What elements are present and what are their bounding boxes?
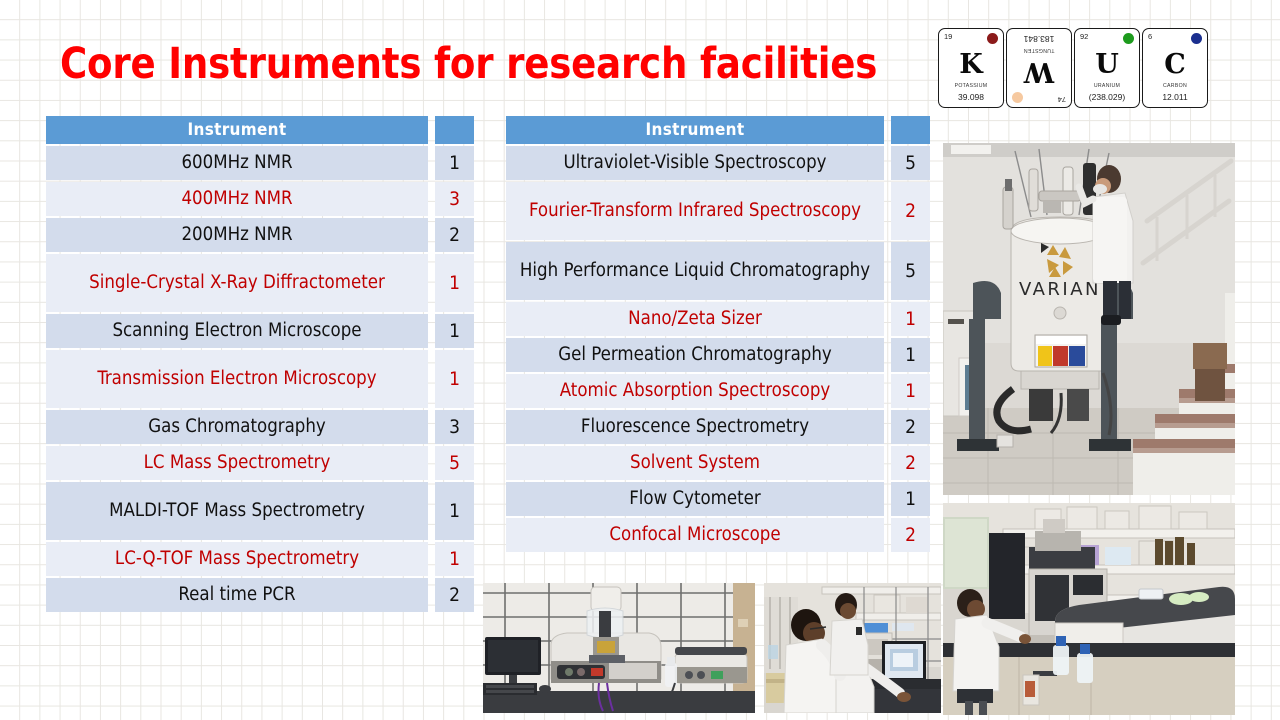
- photo-research-team: [764, 583, 941, 713]
- cell-quantity: 2: [891, 410, 930, 444]
- cell-gap: [428, 314, 435, 348]
- element-category-dot-icon: [1123, 33, 1134, 44]
- cell-gap: [428, 446, 435, 480]
- cell-quantity: 5: [435, 446, 474, 480]
- element-atomic-mass: 39.098: [939, 92, 1003, 102]
- cell-quantity: 2: [891, 446, 930, 480]
- cell-instrument-name: 600MHz NMR: [46, 146, 428, 180]
- cell-gap: [884, 146, 891, 180]
- cell-gap: [428, 182, 435, 216]
- element-category-dot-icon: [1012, 92, 1023, 103]
- cell-gap: [884, 182, 891, 240]
- cell-instrument-name: Fourier-Transform Infrared Spectroscopy: [506, 182, 884, 240]
- table-row[interactable]: Ultraviolet-Visible Spectroscopy5: [506, 146, 930, 180]
- column-header-instrument: Instrument: [46, 116, 428, 144]
- cell-quantity: 1: [435, 350, 474, 408]
- instrument-table-right: Instrument Ultraviolet-Visible Spectrosc…: [506, 116, 930, 554]
- element-name: CARBON: [1143, 83, 1207, 89]
- column-header-quantity: [435, 116, 474, 144]
- cell-instrument-name: Fluorescence Spectrometry: [506, 410, 884, 444]
- element-name: POTASSIUM: [939, 83, 1003, 89]
- table-row[interactable]: Scanning Electron Microscope1: [46, 314, 474, 348]
- element-atomic-number: 6: [1148, 32, 1152, 41]
- table-header-row: Instrument: [46, 116, 474, 144]
- cell-instrument-name: LC Mass Spectrometry: [46, 446, 428, 480]
- table-row[interactable]: Gel Permeation Chromatography1: [506, 338, 930, 372]
- table-row[interactable]: 400MHz NMR3: [46, 182, 474, 216]
- cell-quantity: 3: [435, 182, 474, 216]
- photo-nmr-spectrometer: VARIAN: [943, 143, 1235, 495]
- cell-gap: [428, 146, 435, 180]
- cell-quantity: 1: [891, 482, 930, 516]
- table-row[interactable]: Nano/Zeta Sizer1: [506, 302, 930, 336]
- periodic-element-cards: 19KPOTASSIUM39.09874WTUNGSTEN183.84192UU…: [938, 28, 1208, 108]
- cell-gap: [428, 254, 435, 312]
- cell-quantity: 1: [435, 482, 474, 540]
- element-name: URANIUM: [1075, 83, 1139, 89]
- table-row[interactable]: Fourier-Transform Infrared Spectroscopy2: [506, 182, 930, 240]
- cell-gap: [884, 518, 891, 552]
- page-title: Core Instruments for research facilities: [60, 36, 905, 92]
- cell-quantity: 2: [435, 578, 474, 612]
- cell-instrument-name: 400MHz NMR: [46, 182, 428, 216]
- slide-canvas: Core Instruments for research facilities…: [0, 0, 1280, 720]
- cell-instrument-name: Transmission Electron Microscopy: [46, 350, 428, 408]
- cell-instrument-name: MALDI-TOF Mass Spectrometry: [46, 482, 428, 540]
- cell-quantity: 2: [435, 218, 474, 252]
- table-row[interactable]: Transmission Electron Microscopy1: [46, 350, 474, 408]
- cell-instrument-name: 200MHz NMR: [46, 218, 428, 252]
- cell-gap: [884, 302, 891, 336]
- cell-quantity: 2: [891, 182, 930, 240]
- element-symbol: W: [1007, 58, 1071, 85]
- photo-benchtop-instrument: [483, 583, 755, 713]
- cell-instrument-name: Solvent System: [506, 446, 884, 480]
- cell-quantity: 5: [891, 146, 930, 180]
- cell-instrument-name: Gel Permeation Chromatography: [506, 338, 884, 372]
- element-card-u: 92UURANIUM(238.029): [1074, 28, 1140, 108]
- table-header-row: Instrument: [506, 116, 930, 144]
- cell-gap: [428, 350, 435, 408]
- cell-quantity: 1: [891, 338, 930, 372]
- cell-gap: [428, 218, 435, 252]
- column-gap: [428, 116, 435, 144]
- cell-quantity: 1: [891, 374, 930, 408]
- table-body-left: 600MHz NMR1400MHz NMR3200MHz NMR2Single-…: [46, 146, 474, 614]
- cell-instrument-name: Real time PCR: [46, 578, 428, 612]
- table-row[interactable]: Solvent System2: [506, 446, 930, 480]
- cell-quantity: 1: [435, 254, 474, 312]
- element-symbol: U: [1075, 51, 1139, 78]
- element-atomic-number: 92: [1080, 32, 1088, 41]
- cell-instrument-name: Nano/Zeta Sizer: [506, 302, 884, 336]
- element-symbol: C: [1143, 51, 1207, 78]
- cell-quantity: 1: [435, 146, 474, 180]
- cell-quantity: 3: [435, 410, 474, 444]
- table-row[interactable]: LC Mass Spectrometry5: [46, 446, 474, 480]
- cell-gap: [884, 338, 891, 372]
- table-row[interactable]: Real time PCR2: [46, 578, 474, 612]
- table-row[interactable]: 600MHz NMR1: [46, 146, 474, 180]
- cell-gap: [884, 482, 891, 516]
- cell-gap: [884, 446, 891, 480]
- column-gap: [884, 116, 891, 144]
- table-row[interactable]: Flow Cytometer1: [506, 482, 930, 516]
- column-header-instrument: Instrument: [506, 116, 884, 144]
- element-card-k: 19KPOTASSIUM39.098: [938, 28, 1004, 108]
- table-body-right: Ultraviolet-Visible Spectroscopy5Fourier…: [506, 146, 930, 554]
- table-row[interactable]: Fluorescence Spectrometry2: [506, 410, 930, 444]
- element-atomic-number: 74: [1058, 95, 1066, 104]
- element-card-c: 6CCARBON12.011: [1142, 28, 1208, 108]
- cell-instrument-name: Atomic Absorption Spectroscopy: [506, 374, 884, 408]
- table-row[interactable]: Single-Crystal X-Ray Diffractometer1: [46, 254, 474, 312]
- cell-gap: [428, 542, 435, 576]
- cell-gap: [884, 242, 891, 300]
- cell-instrument-name: Scanning Electron Microscope: [46, 314, 428, 348]
- cell-quantity: 2: [891, 518, 930, 552]
- element-category-dot-icon: [1191, 33, 1202, 44]
- element-atomic-number: 19: [944, 32, 952, 41]
- element-category-dot-icon: [987, 33, 998, 44]
- cell-instrument-name: Gas Chromatography: [46, 410, 428, 444]
- cell-instrument-name: Confocal Microscope: [506, 518, 884, 552]
- cell-gap: [428, 578, 435, 612]
- cell-instrument-name: High Performance Liquid Chromatography: [506, 242, 884, 300]
- svg-text:VARIAN: VARIAN: [1019, 279, 1101, 300]
- element-atomic-mass: 183.841: [1007, 34, 1071, 44]
- cell-gap: [428, 410, 435, 444]
- instrument-table-left: Instrument 600MHz NMR1400MHz NMR3200MHz …: [46, 116, 474, 614]
- cell-quantity: 5: [891, 242, 930, 300]
- cell-instrument-name: Flow Cytometer: [506, 482, 884, 516]
- element-name: TUNGSTEN: [1007, 47, 1071, 53]
- photo-mass-spectrometer-lab: [943, 503, 1235, 715]
- element-symbol: K: [939, 51, 1003, 78]
- cell-instrument-name: Single-Crystal X-Ray Diffractometer: [46, 254, 428, 312]
- table-row[interactable]: Gas Chromatography3: [46, 410, 474, 444]
- table-row[interactable]: MALDI-TOF Mass Spectrometry1: [46, 482, 474, 540]
- cell-quantity: 1: [435, 542, 474, 576]
- table-row[interactable]: LC-Q-TOF Mass Spectrometry1: [46, 542, 474, 576]
- table-row[interactable]: Atomic Absorption Spectroscopy1: [506, 374, 930, 408]
- cell-quantity: 1: [891, 302, 930, 336]
- cell-gap: [428, 482, 435, 540]
- cell-gap: [884, 374, 891, 408]
- table-row[interactable]: Confocal Microscope2: [506, 518, 930, 552]
- table-row[interactable]: High Performance Liquid Chromatography5: [506, 242, 930, 300]
- cell-instrument-name: Ultraviolet-Visible Spectroscopy: [506, 146, 884, 180]
- cell-instrument-name: LC-Q-TOF Mass Spectrometry: [46, 542, 428, 576]
- cell-gap: [884, 410, 891, 444]
- element-card-w: 74WTUNGSTEN183.841: [1006, 28, 1072, 108]
- element-atomic-mass: (238.029): [1075, 92, 1139, 102]
- element-atomic-mass: 12.011: [1143, 92, 1207, 102]
- cell-quantity: 1: [435, 314, 474, 348]
- table-row[interactable]: 200MHz NMR2: [46, 218, 474, 252]
- column-header-quantity: [891, 116, 930, 144]
